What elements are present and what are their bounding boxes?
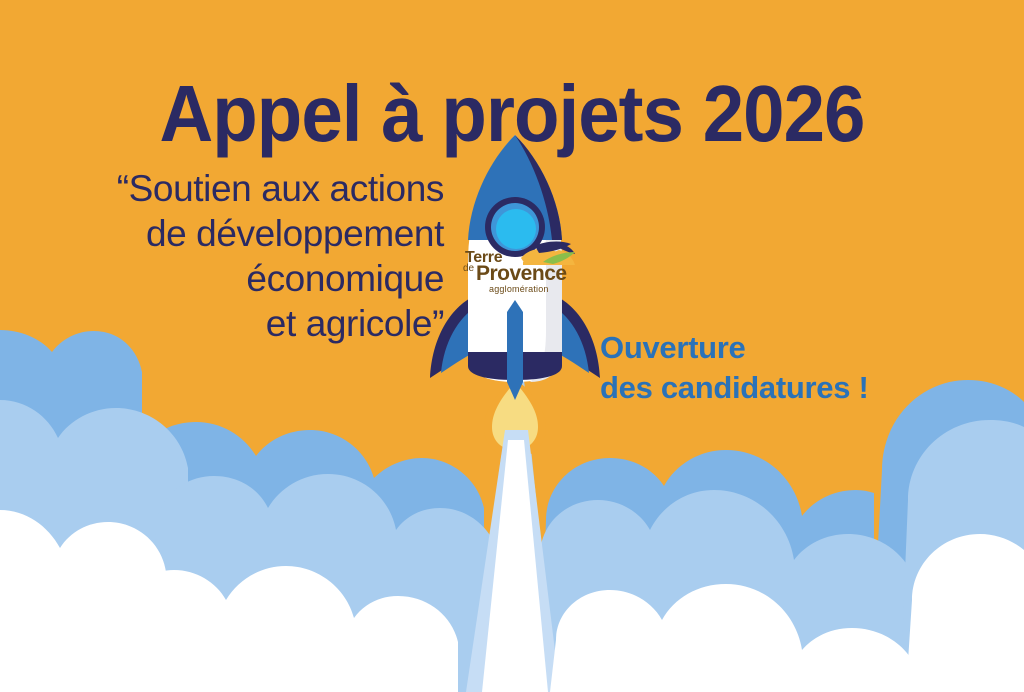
call-to-action-block: Ouverture des candidatures ! <box>600 328 1000 408</box>
cta-line-2: des candidatures ! <box>600 368 1000 408</box>
cta-line-1: Ouverture <box>600 328 1000 368</box>
quote-line-1: “Soutien aux actions <box>24 166 444 211</box>
poster-canvas: Terre de Provence agglomération Appel à … <box>0 0 1024 692</box>
quote-line-3: économique <box>24 256 444 301</box>
quote-line-2: de développement <box>24 211 444 256</box>
quote-block: “Soutien aux actions de développement éc… <box>24 166 444 346</box>
quote-line-4: et agricole” <box>24 301 444 346</box>
page-title: Appel à projets 2026 <box>36 68 988 160</box>
